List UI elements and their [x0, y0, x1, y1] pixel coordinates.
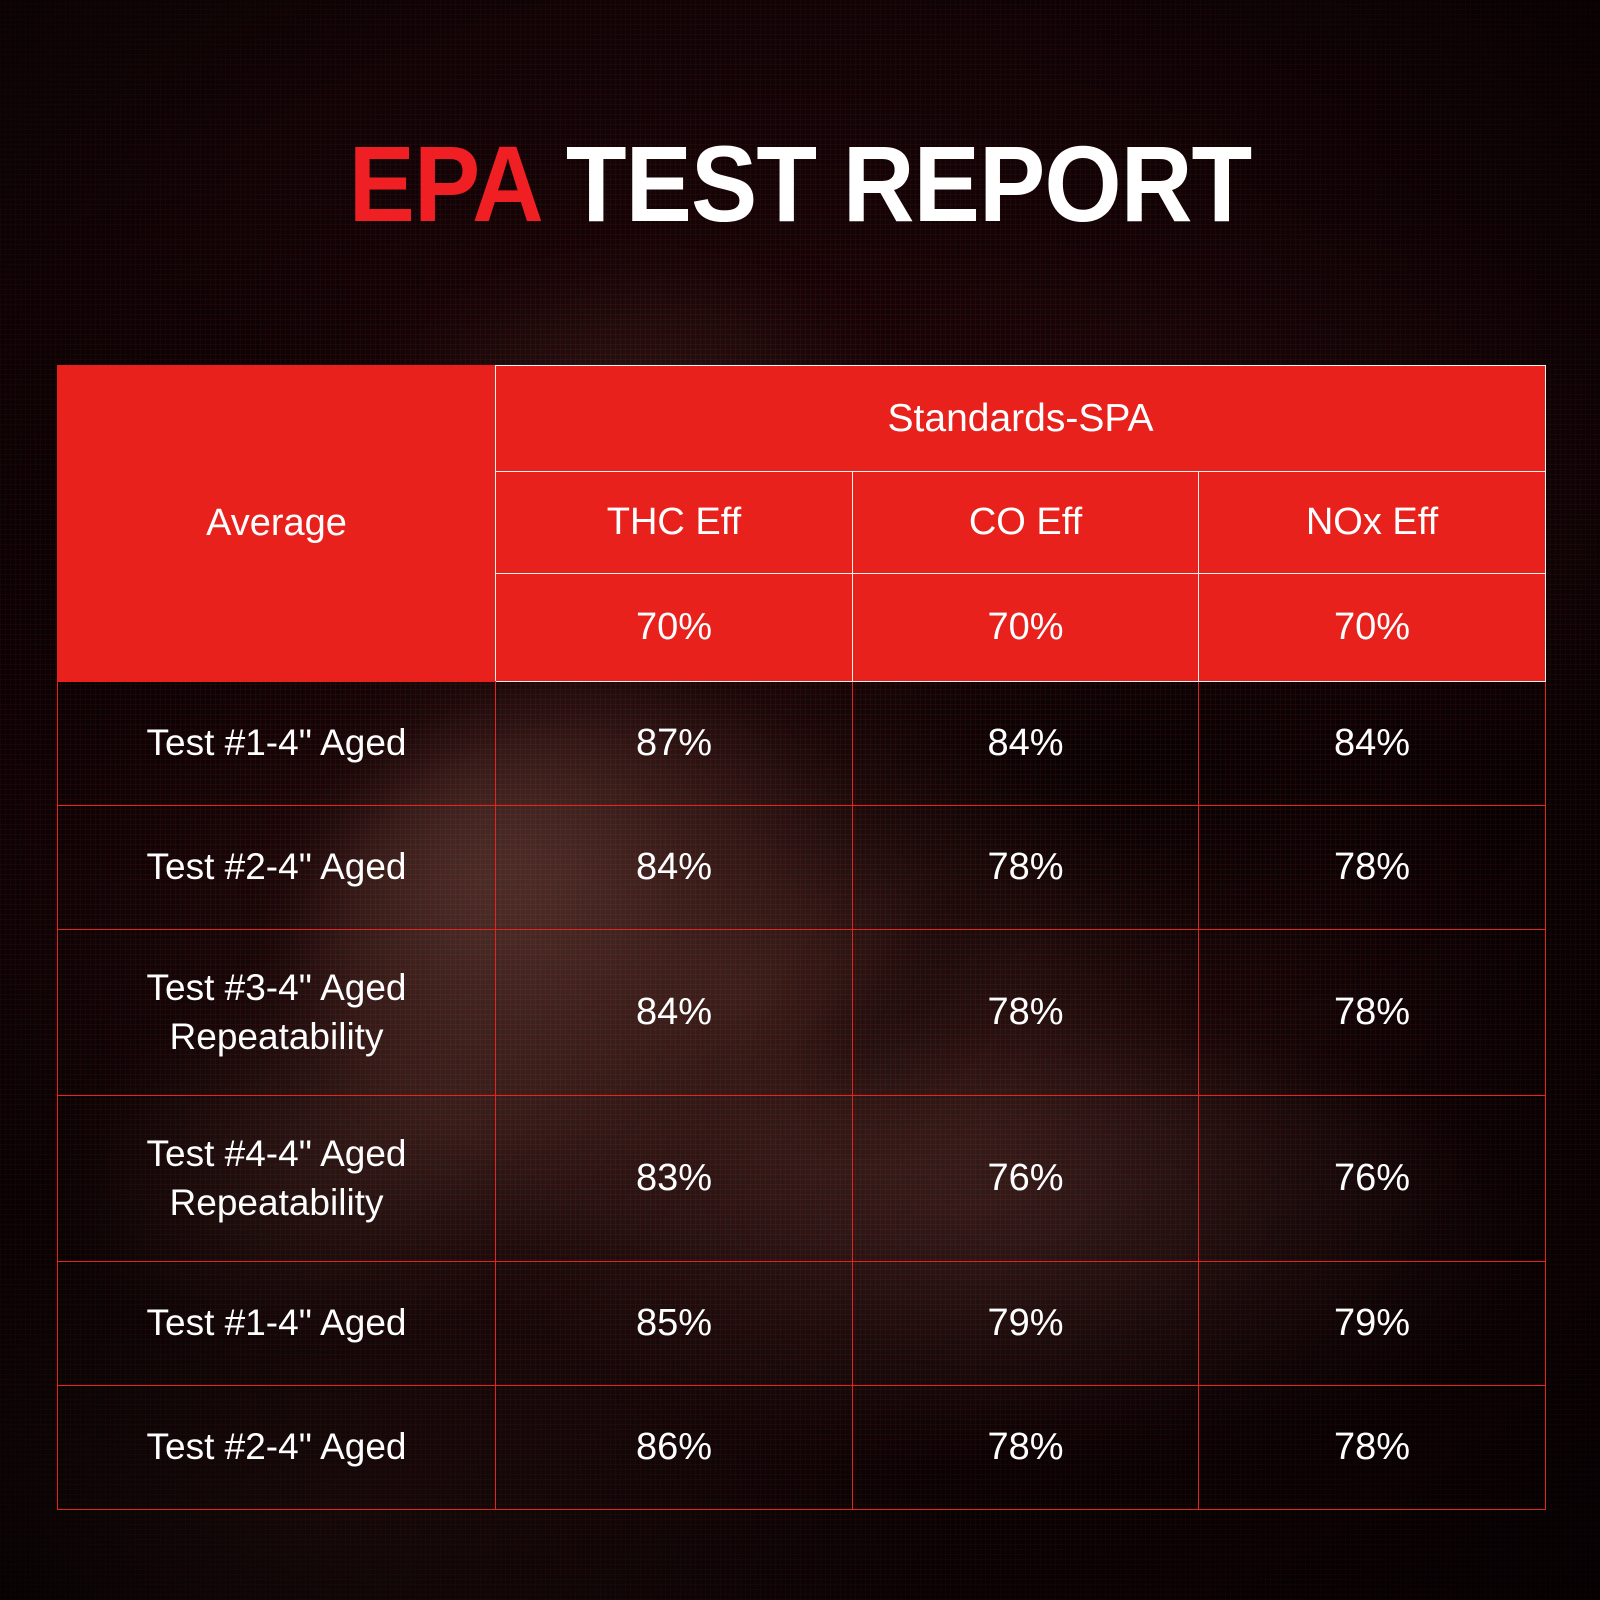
header-cell-nox-eff: NOx Eff: [1199, 472, 1546, 574]
header-cell-group-standards-spa: Standards-SPA: [496, 366, 1546, 472]
page-title: EPA TEST REPORT: [64, 130, 1536, 238]
table-row: Test #1-4" Aged 87% 84% 84%: [58, 682, 1546, 806]
standard-value-nox: 70%: [1199, 574, 1546, 682]
page-title-accent: EPA: [349, 123, 539, 244]
header-cell-average: Average: [58, 366, 496, 682]
row-label: Test #3-4" Aged Repeatability: [58, 930, 496, 1096]
table-row: Test #2-4" Aged 84% 78% 78%: [58, 806, 1546, 930]
cell-nox: 78%: [1199, 930, 1546, 1096]
standard-value-thc: 70%: [496, 574, 853, 682]
cell-nox: 78%: [1199, 1386, 1546, 1510]
row-label: Test #2-4" Aged: [58, 806, 496, 930]
table-header-group-row: Average Standards-SPA: [58, 366, 1546, 472]
cell-nox: 84%: [1199, 682, 1546, 806]
row-label: Test #1-4" Aged: [58, 682, 496, 806]
cell-co: 78%: [853, 806, 1199, 930]
page-title-rest: TEST REPORT: [539, 123, 1251, 244]
cell-thc: 84%: [496, 806, 853, 930]
cell-nox: 78%: [1199, 806, 1546, 930]
table-row: Test #3-4" Aged Repeatability 84% 78% 78…: [58, 930, 1546, 1096]
cell-thc: 83%: [496, 1096, 853, 1262]
cell-co: 84%: [853, 682, 1199, 806]
cell-thc: 85%: [496, 1262, 853, 1386]
table-row: Test #4-4" Aged Repeatability 83% 76% 76…: [58, 1096, 1546, 1262]
row-label: Test #1-4" Aged: [58, 1262, 496, 1386]
table-row: Test #1-4" Aged 85% 79% 79%: [58, 1262, 1546, 1386]
cell-thc: 86%: [496, 1386, 853, 1510]
cell-nox: 79%: [1199, 1262, 1546, 1386]
cell-co: 78%: [853, 930, 1199, 1096]
cell-co: 79%: [853, 1262, 1199, 1386]
epa-test-report-table: Average Standards-SPA THC Eff CO Eff NOx…: [57, 365, 1546, 1510]
table-row: Test #2-4" Aged 86% 78% 78%: [58, 1386, 1546, 1510]
cell-nox: 76%: [1199, 1096, 1546, 1262]
cell-thc: 87%: [496, 682, 853, 806]
cell-thc: 84%: [496, 930, 853, 1096]
header-cell-thc-eff: THC Eff: [496, 472, 853, 574]
cell-co: 78%: [853, 1386, 1199, 1510]
standard-value-co: 70%: [853, 574, 1199, 682]
row-label: Test #2-4" Aged: [58, 1386, 496, 1510]
header-cell-co-eff: CO Eff: [853, 472, 1199, 574]
row-label: Test #4-4" Aged Repeatability: [58, 1096, 496, 1262]
cell-co: 76%: [853, 1096, 1199, 1262]
